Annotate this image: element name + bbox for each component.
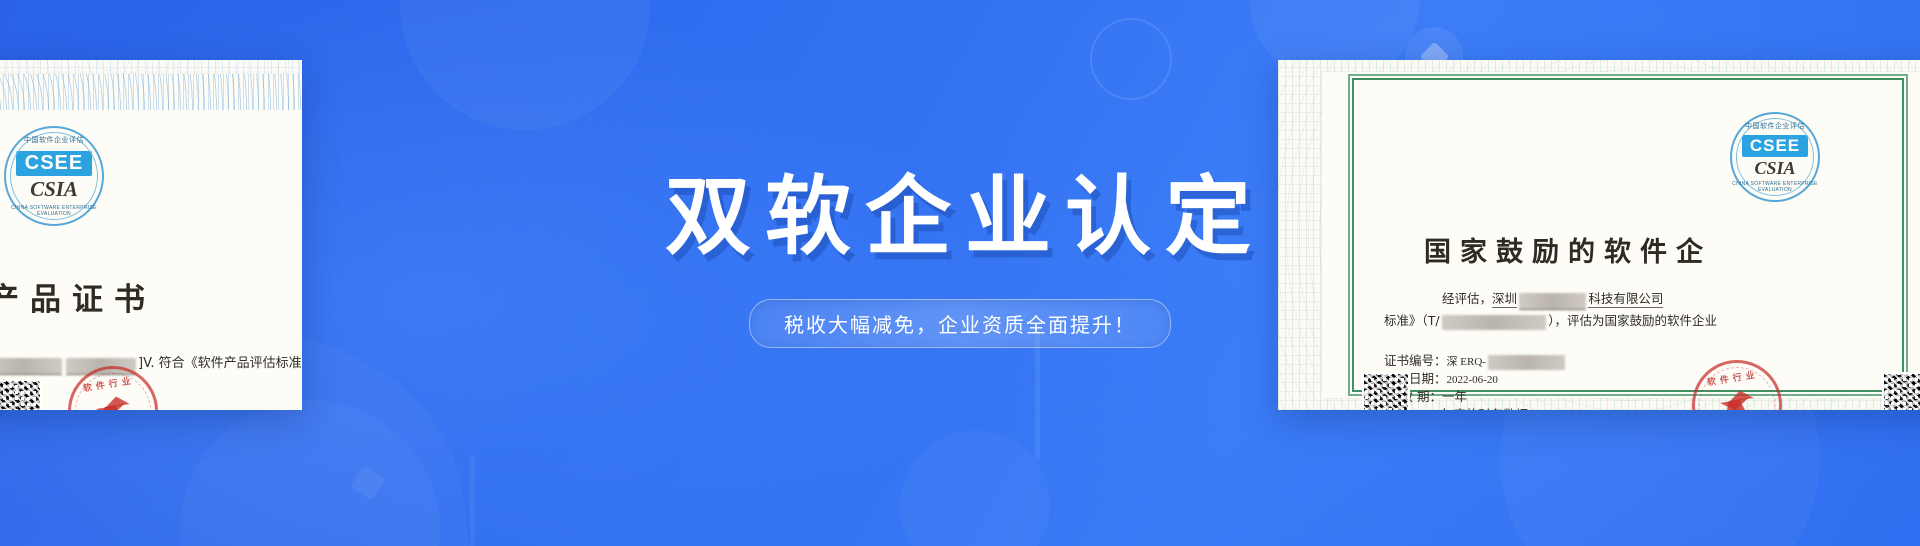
banner-title: 双软企业认定 — [665, 172, 1265, 262]
banner-subtitle-badge: 税收大幅减免，企业资质全面提升！ — [749, 299, 1171, 348]
banner-center-content: 双软企业认定 税收大幅减免，企业资质全面提升！ — [0, 0, 1920, 546]
promo-banner: 中国软件企业评估 CSEE CSIA CHINA SOFTWARE ENTERP… — [0, 0, 1920, 546]
